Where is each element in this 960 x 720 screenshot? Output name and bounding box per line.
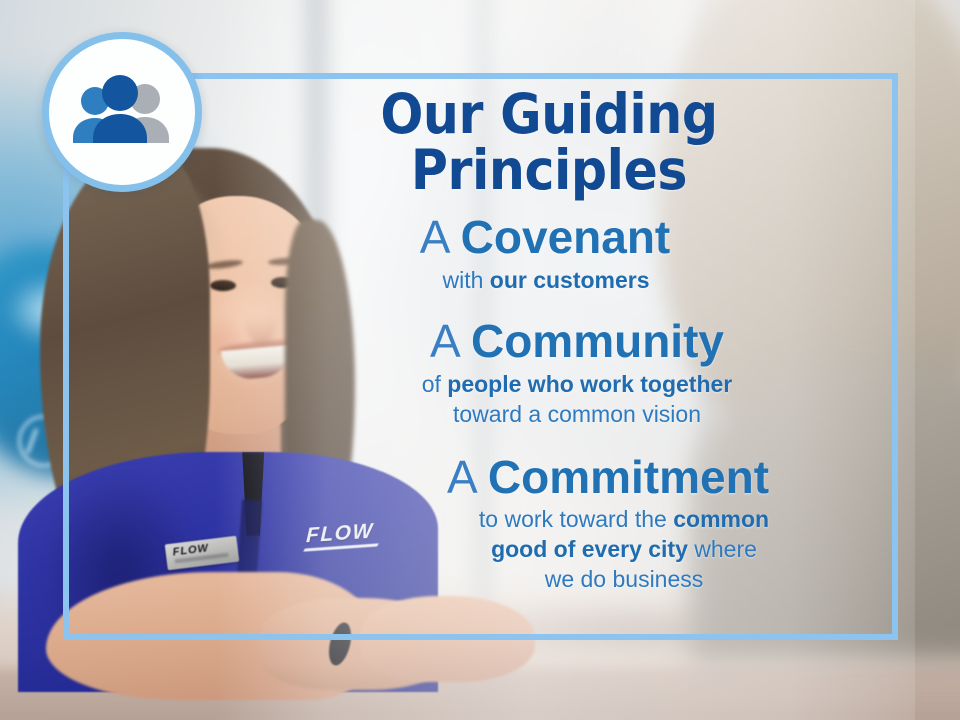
subtext-bold: people who work together [447, 371, 732, 397]
subtext-plain-2: toward a common vision [453, 401, 701, 427]
guiding-principles-poster: FLOW FLOW Our Guid [0, 0, 960, 720]
subtext-bold: common [673, 506, 769, 532]
principle-subtext: of people who work together toward a com… [215, 370, 883, 430]
subtext-plain: with [442, 267, 489, 293]
text-content: Our Guiding Principles A Covenant with o… [215, 86, 883, 595]
subtext-bold: our customers [490, 267, 650, 293]
principle-commitment: A Commitment to work toward the common g… [215, 454, 883, 596]
principle-subtext: with our customers [215, 266, 883, 296]
employee-hands [360, 596, 535, 682]
page-title: Our Guiding Principles [242, 86, 857, 198]
subtext-plain-2: where [688, 536, 757, 562]
subtext-bold-2: good of every city [491, 536, 688, 562]
principle-lead: A [447, 451, 488, 503]
principle-keyword: Commitment [488, 451, 769, 503]
subtext-plain: to work toward the [479, 506, 673, 532]
subtext-plain-3: we do business [545, 566, 704, 592]
principle-keyword: Community [471, 315, 724, 367]
principle-heading: A Covenant [215, 214, 883, 262]
principle-lead: A [420, 211, 461, 263]
principle-keyword: Covenant [461, 211, 671, 263]
people-group-icon-badge [42, 32, 202, 192]
principle-heading: A Community [215, 318, 883, 366]
principle-community: A Community of people who work together … [215, 318, 883, 430]
people-group-icon [69, 75, 175, 149]
subtext-plain: of [422, 371, 448, 397]
principle-subtext: to work toward the common good of every … [215, 505, 883, 595]
principle-covenant: A Covenant with our customers [215, 214, 883, 296]
principle-lead: A [430, 315, 471, 367]
principle-heading: A Commitment [215, 454, 883, 502]
